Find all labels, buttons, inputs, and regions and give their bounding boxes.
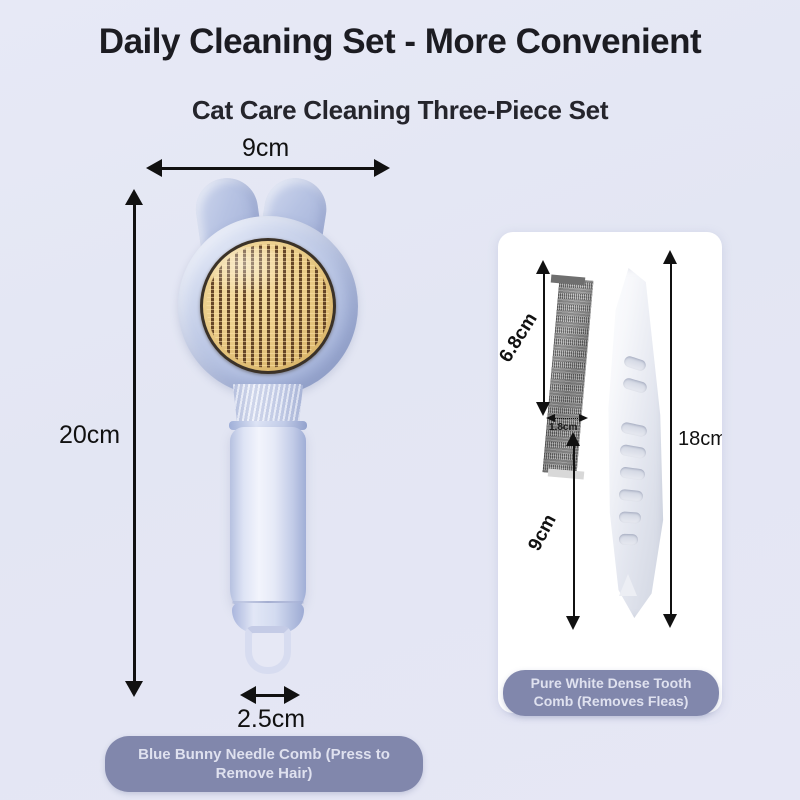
comb-grip-holes (616, 358, 652, 568)
arrow-down-icon (663, 614, 677, 628)
grip-hole (619, 466, 645, 480)
grip-hole (620, 421, 648, 437)
arrow-left-icon (240, 686, 256, 704)
arrow-up-icon (125, 189, 143, 205)
brush-head (178, 216, 358, 396)
dimension-line-comb-teeth-height (543, 274, 545, 404)
product-infographic: Daily Cleaning Set - More Convenient Cat… (0, 0, 800, 800)
arrow-left-icon (146, 159, 162, 177)
grip-hole (619, 511, 642, 524)
brush-pad-ring (200, 238, 336, 374)
grip-hole (619, 444, 647, 459)
grip-hole (622, 377, 648, 394)
arrow-left-icon (546, 414, 555, 422)
caption-badge-flea-comb: Pure White Dense Tooth Comb (Removes Fle… (503, 670, 719, 716)
dimension-line-comb-total (670, 264, 672, 616)
grip-hole (618, 489, 643, 502)
page-subtitle: Cat Care Cleaning Three-Piece Set (0, 95, 800, 126)
arrow-up-icon (566, 432, 580, 446)
dimension-label-bunny-tip: 2.5cm (237, 705, 305, 734)
dimension-label-bunny-height: 20cm (59, 421, 120, 450)
arrow-up-icon (536, 260, 550, 274)
grip-hole (619, 534, 638, 546)
brush-pad (203, 241, 333, 371)
arrow-right-icon (374, 159, 390, 177)
dimension-line-comb-teeth-width (554, 418, 580, 419)
flea-comb-card: 6.8cm 1.8cm 9cm 18cm (498, 232, 722, 713)
caption-badge-bunny-comb: Blue Bunny Needle Comb (Press to Remove … (105, 736, 423, 792)
arrow-right-icon (579, 414, 588, 422)
page-title: Daily Cleaning Set - More Convenient (0, 22, 800, 62)
dimension-line-comb-handle (573, 446, 575, 618)
dimension-label-comb-handle: 9cm (524, 511, 561, 555)
comb-plastic-body (594, 268, 666, 618)
arrow-down-icon (566, 616, 580, 630)
arrow-down-icon (125, 681, 143, 697)
brush-handle (230, 427, 306, 619)
dimension-line-bunny-height (133, 204, 136, 682)
dimension-line-bunny-width (160, 167, 376, 170)
arrow-up-icon (663, 250, 677, 264)
dimension-line-bunny-tip (254, 694, 286, 697)
brush-pad-gloss (211, 247, 291, 295)
brush-hanging-loop (245, 626, 291, 674)
grip-hole (623, 355, 647, 372)
dimension-label-comb-total: 18cm (678, 428, 722, 451)
dimension-label-bunny-width: 9cm (242, 134, 289, 163)
dimension-label-comb-teeth-height: 6.8cm (498, 309, 543, 366)
bunny-needle-comb-product-image (172, 178, 362, 658)
comb-bottom-edge (548, 468, 585, 479)
comb-top-edge (551, 275, 586, 286)
arrow-right-icon (284, 686, 300, 704)
